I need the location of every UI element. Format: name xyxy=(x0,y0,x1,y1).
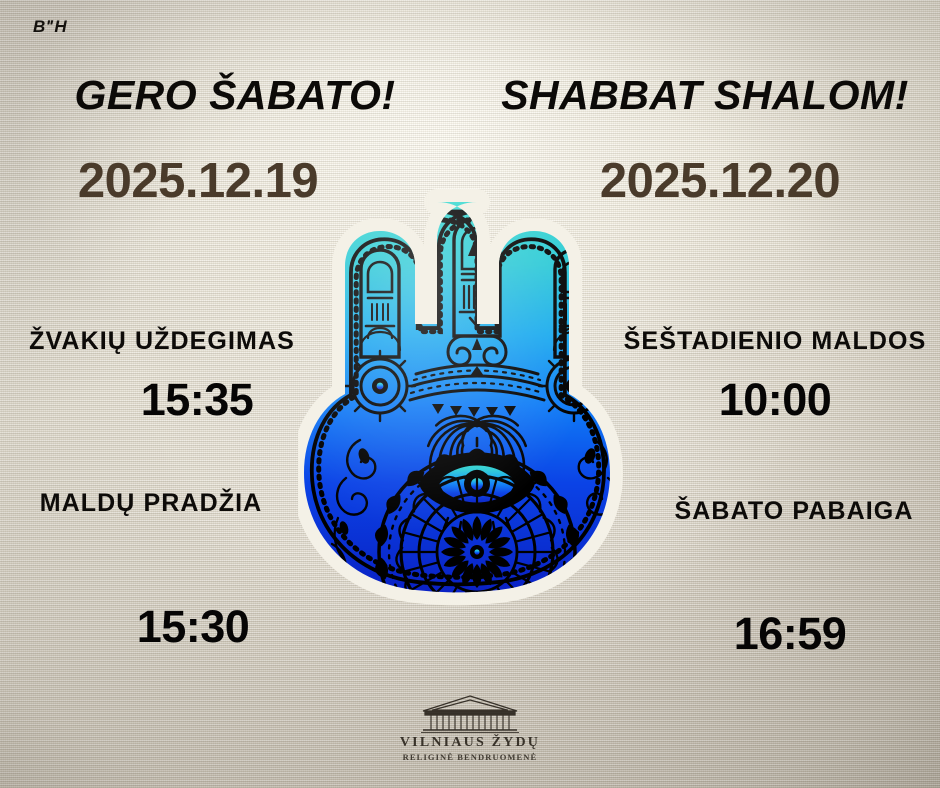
community-logo: VILNIAUS ŽYDŲ RELIGINĖ BENDRUOMENĖ xyxy=(0,694,940,762)
logo-subtitle: RELIGINĖ BENDRUOMENĖ xyxy=(403,752,538,762)
time-shabbat-end: 16:59 xyxy=(640,608,940,660)
label-saturday-prayers: ŠEŠTADIENIO MALDOS xyxy=(610,327,940,356)
blessing-mark: BʺH xyxy=(33,17,67,37)
label-candle-lighting: ŽVAKIŲ UŽDEGIMAS xyxy=(0,327,324,356)
greeting-hebrew: SHABBAT SHALOM! xyxy=(470,72,940,119)
shabbat-times-poster: BʺH GERO ŠABATO! SHABBAT SHALOM! 2025.12… xyxy=(0,0,940,788)
logo-name: VILNIAUS ŽYDŲ xyxy=(400,735,540,751)
label-prayers-start: MALDŲ PRADŽIA xyxy=(0,489,302,518)
hamsa-hand-icon xyxy=(298,188,656,640)
time-saturday-prayers: 10:00 xyxy=(610,374,940,426)
label-shabbat-end: ŠABATO PABAIGA xyxy=(648,497,940,526)
synagogue-building-icon xyxy=(418,694,522,734)
greeting-lithuanian: GERO ŠABATO! xyxy=(0,72,470,119)
